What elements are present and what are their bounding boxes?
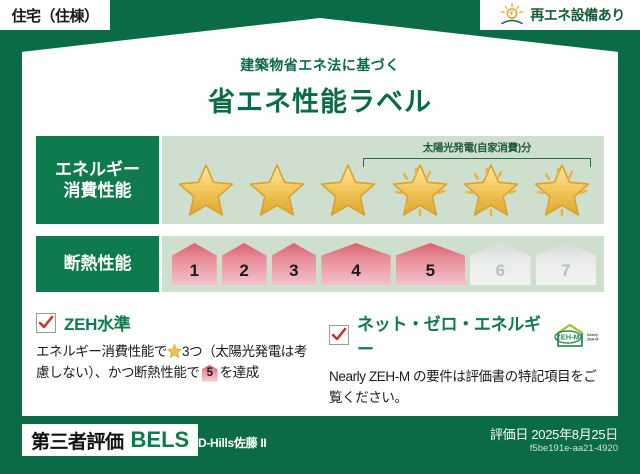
- criterion-zeh-body: エネルギー消費性能で 3つ（太陽光発電は考慮しない）、かつ断熱性能で5を達成: [36, 342, 311, 384]
- renewable-label: 再エネ設備あり: [530, 5, 625, 25]
- title-subtitle: 建築物省エネ法に基づく: [0, 55, 640, 75]
- check-icon: [36, 313, 56, 333]
- energy-performance-label: 住宅（住棟） 再エネ設備あり 建築物省エネ法に基づく 省エネ性能ラベル: [0, 0, 640, 474]
- energy-rating-area: 太陽光発電(自家消費)分: [162, 136, 604, 224]
- third-party-label: 第三者評価: [31, 427, 124, 454]
- insulation-badges-row: 1234567: [172, 241, 596, 287]
- sun-renewable-icon: [499, 3, 525, 27]
- house-type-label: 住宅（住棟）: [11, 5, 98, 26]
- insulation-badge-7: 7: [536, 243, 596, 285]
- energy-star-filled: [172, 160, 240, 220]
- energy-performance-label-box: エネルギー 消費性能: [36, 136, 162, 224]
- insulation-performance-panel: 断熱性能 1234567: [36, 236, 604, 292]
- criteria-section: ZEH水準 エネルギー消費性能で 3つ（太陽光発電は考慮しない）、かつ断熱性能で…: [36, 310, 604, 409]
- insulation-badge-3: 3: [272, 243, 317, 285]
- criterion-zeh-text-pre: エネルギー消費性能で: [36, 344, 167, 359]
- criterion-nze-body: Nearly ZEH-M の要件は評価書の特記項目をご覧ください。: [329, 367, 604, 409]
- inline-star-icon: [167, 344, 182, 358]
- criterion-zeh-standard: ZEH水準 エネルギー消費性能で 3つ（太陽光発電は考慮しない）、かつ断熱性能で…: [36, 310, 311, 409]
- energy-label-line1: エネルギー: [55, 159, 140, 180]
- energy-label-line2: 消費性能: [64, 180, 132, 201]
- solar-bracket-label: 太陽光発電(自家消費)分: [352, 140, 602, 155]
- insulation-badge-2: 2: [222, 243, 267, 285]
- svg-text:Nearly: Nearly: [587, 333, 598, 337]
- evaluation-id: f5be191e-aa21-4920: [530, 443, 618, 454]
- energy-star-filled: [243, 160, 311, 220]
- inline-insulation-badge: 5: [202, 365, 218, 382]
- criterion-zeh-header: ZEH水準: [36, 310, 311, 335]
- energy-star-solar: [528, 160, 596, 220]
- energy-star-filled: [314, 160, 382, 220]
- energy-star-solar: [457, 160, 525, 220]
- svg-text:ZEH-M: ZEH-M: [587, 337, 598, 341]
- bels-certification-box: 第三者評価 BELS: [22, 424, 198, 456]
- energy-performance-panel: エネルギー 消費性能 太陽光発電(自家消費)分: [36, 136, 604, 224]
- criterion-net-zero-energy: ネット・ゼロ・エネルギー ZEH-M Nearly ZEH-M Nearly Z…: [329, 310, 604, 409]
- insulation-label: 断熱性能: [64, 253, 132, 274]
- bels-label: BELS: [131, 427, 190, 453]
- criterion-zeh-title: ZEH水準: [64, 310, 131, 335]
- label-footer: 第三者評価 BELS D-Hills佐藤 II 評価日 2025年8月25日 f…: [0, 416, 640, 474]
- energy-star-solar: [386, 160, 454, 220]
- svg-text:ZEH-M: ZEH-M: [556, 333, 579, 342]
- zeh-m-house-logo: ZEH-M Nearly ZEH-M: [552, 322, 604, 348]
- insulation-badge-6: 6: [470, 243, 530, 285]
- insulation-badge-1: 1: [172, 243, 217, 285]
- insulation-rating-area: 1234567: [162, 236, 604, 292]
- title-main: 省エネ性能ラベル: [0, 80, 640, 119]
- label-title-block: 建築物省エネ法に基づく 省エネ性能ラベル: [0, 55, 640, 119]
- insulation-badge-4: 4: [321, 243, 390, 285]
- building-name: D-Hills佐藤 II: [198, 434, 266, 451]
- evaluation-date: 評価日 2025年8月25日: [490, 424, 618, 443]
- energy-stars-row: [170, 158, 598, 220]
- criterion-zeh-text-post: を達成: [220, 365, 259, 380]
- criterion-nze-header: ネット・ゼロ・エネルギー ZEH-M Nearly ZEH-M: [329, 310, 604, 360]
- check-icon: [329, 325, 349, 345]
- criterion-nze-title: ネット・ゼロ・エネルギー: [357, 310, 541, 360]
- house-type-tab: 住宅（住棟）: [0, 0, 110, 30]
- insulation-performance-label-box: 断熱性能: [36, 236, 162, 292]
- renewable-equipment-tab: 再エネ設備あり: [480, 0, 640, 30]
- insulation-badge-5: 5: [396, 243, 465, 285]
